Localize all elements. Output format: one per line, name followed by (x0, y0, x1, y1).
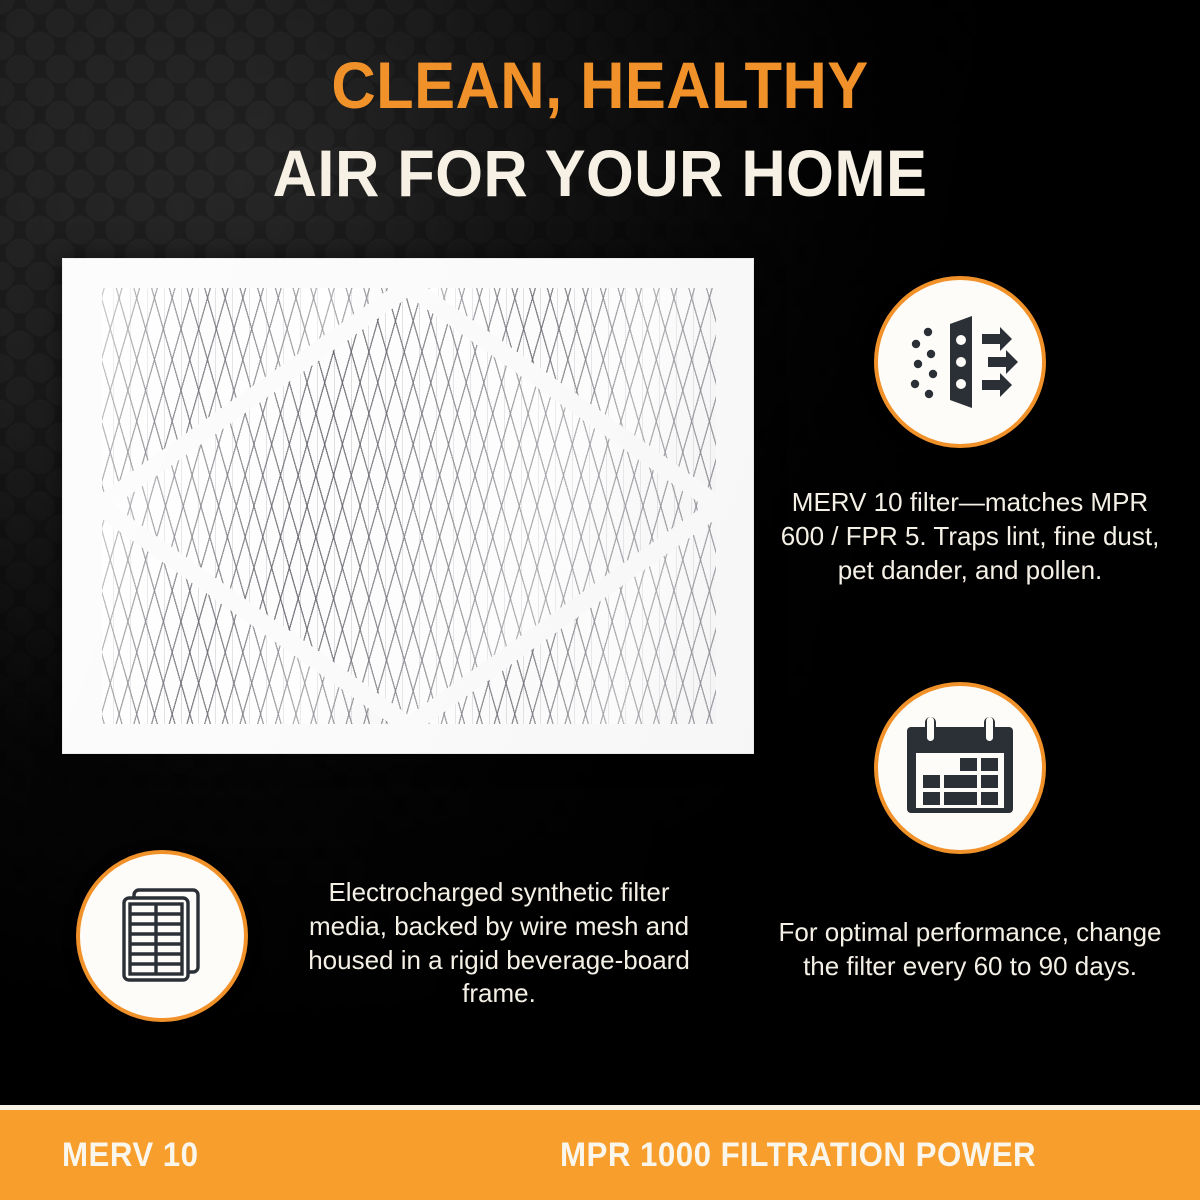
footer-banner: MERV 10 MPR 1000 FILTRATION POWER (0, 1110, 1200, 1200)
headline-line-1: CLEAN, HEALTHY (42, 52, 1158, 118)
product-photo-air-filter (62, 258, 754, 754)
headline-block: CLEAN, HEALTHY AIR FOR YOUR HOME (0, 52, 1200, 206)
calendar-icon (901, 709, 1019, 827)
footer-label-merv: MERV 10 (62, 1136, 199, 1175)
feature-text-filtration: MERV 10 filter—matches MPR 600 / FPR 5. … (768, 486, 1172, 587)
headline-line-2: AIR FOR YOUR HOME (42, 140, 1158, 206)
feature-text-calendar: For optimal performance, change the filt… (768, 916, 1172, 984)
filter-media-panels-icon (106, 880, 218, 992)
badge-calendar (874, 682, 1046, 854)
feature-text-media: Electrocharged synthetic filter media, b… (292, 876, 706, 1011)
badge-filtration (874, 276, 1046, 448)
air-filter-particles-icon (900, 302, 1020, 422)
badge-filter-media (76, 850, 248, 1022)
filter-frame-inner (102, 288, 716, 724)
footer-label-mpr: MPR 1000 FILTRATION POWER (560, 1136, 1036, 1175)
